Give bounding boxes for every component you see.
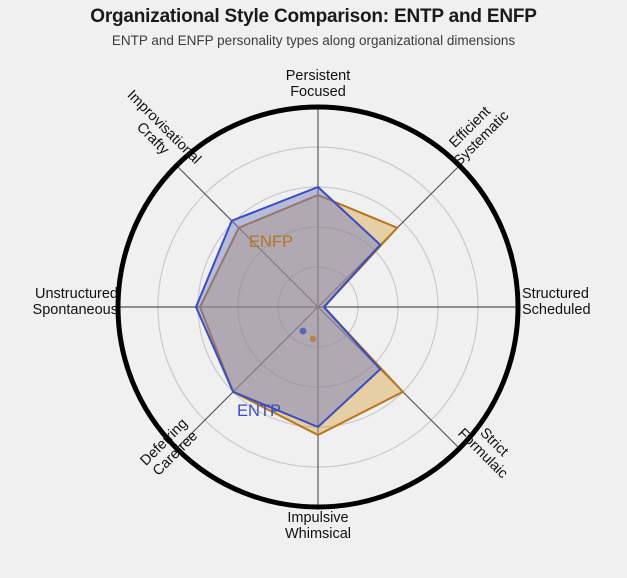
axis-label-line1: Persistent — [286, 68, 350, 84]
axis-label-persistent-focused: Persistent Focused — [258, 68, 378, 100]
axis-label-line1: Impulsive — [287, 510, 348, 526]
series-label-enfp: ENFP — [249, 233, 293, 252]
axis-label-line2: Spontaneous — [4, 302, 118, 318]
axis-label-line1: Unstructured — [35, 286, 118, 302]
axis-label-impulsive-whimsical: Impulsive Whimsical — [258, 510, 378, 542]
axis-label-structured-scheduled: Structured Scheduled — [522, 286, 627, 318]
axis-label-line2: Scheduled — [522, 302, 627, 318]
axis-label-unstructured-spontaneous: Unstructured Spontaneous — [4, 286, 118, 318]
center-marker-entp — [300, 328, 307, 335]
center-marker-enfp — [310, 336, 317, 343]
axis-label-line2: Whimsical — [258, 526, 378, 542]
axis-label-line1: Structured — [522, 286, 589, 302]
series-label-entp: ENTP — [237, 402, 281, 421]
chart-figure: Organizational Style Comparison: ENTP an… — [0, 0, 627, 578]
axis-label-line2: Focused — [258, 84, 378, 100]
